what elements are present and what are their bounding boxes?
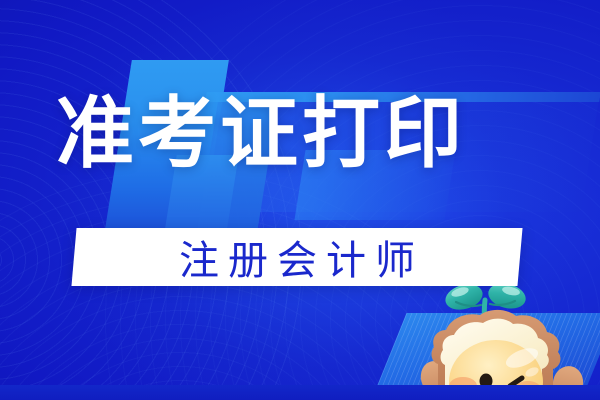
exam-admission-ticket-banner: 准考证打印 注册会计师 bbox=[0, 0, 600, 400]
mascot-bread-character bbox=[418, 286, 588, 400]
bottom-strip bbox=[0, 385, 600, 400]
page-title: 准考证打印 bbox=[56, 92, 546, 175]
subtitle-text: 注册会计师 bbox=[74, 228, 520, 286]
